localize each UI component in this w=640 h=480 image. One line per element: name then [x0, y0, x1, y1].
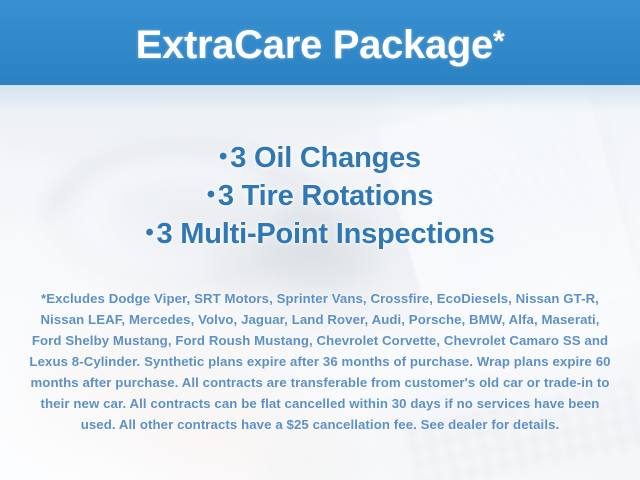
- page-title-text: ExtraCare Package: [136, 23, 493, 67]
- header-banner: ExtraCare Package*: [0, 0, 640, 85]
- benefit-item-label: 3 Tire Rotations: [218, 180, 433, 212]
- disclaimer-text: *Excludes Dodge Viper, SRT Motors, Sprin…: [26, 288, 614, 435]
- page-title: ExtraCare Package*: [136, 21, 505, 65]
- benefit-item: •3 Oil Changes: [0, 140, 640, 178]
- benefit-item: •3 Multi-Point Inspections: [0, 216, 640, 254]
- page-title-asterisk: *: [493, 25, 504, 58]
- bullet-icon: •: [145, 219, 156, 246]
- bullet-icon: •: [219, 143, 230, 170]
- benefit-item-label: 3 Multi-Point Inspections: [157, 218, 495, 250]
- photo-top-fade: [0, 85, 640, 111]
- bullet-icon: •: [207, 181, 218, 208]
- benefit-item: •3 Tire Rotations: [0, 178, 640, 216]
- extracare-promo-card: ExtraCare Package* •3 Oil Changes •3 Tir…: [0, 0, 640, 480]
- benefits-list: •3 Oil Changes •3 Tire Rotations •3 Mult…: [0, 140, 640, 254]
- benefit-item-label: 3 Oil Changes: [230, 142, 421, 174]
